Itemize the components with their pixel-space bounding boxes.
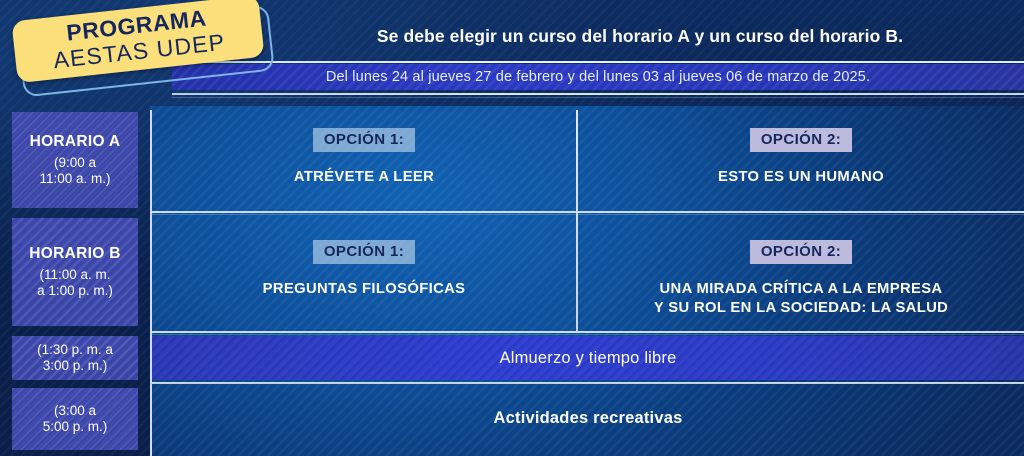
grid-vertical-option-divider: [576, 110, 578, 331]
header-rule-bottom-thin: [172, 97, 1024, 98]
horario-b-time: (11:00 a. m. a 1:00 p. m.): [37, 267, 113, 300]
option-badge: OPCIÓN 1:: [313, 128, 415, 152]
lunch-time-line1: (1:30 p. m. a: [37, 342, 113, 357]
cell-horario-b-option-1[interactable]: OPCIÓN 1: PREGUNTAS FILOSÓFICAS: [152, 224, 576, 328]
course-title: ATRÉVETE A LEER: [294, 168, 434, 187]
cell-horario-b-option-2[interactable]: OPCIÓN 2: UNA MIRADA CRÍTICA A LA EMPRES…: [578, 224, 1024, 328]
grid-horizontal-lunch-thin: [150, 383, 1024, 384]
horario-a-time: (9:00 a 11:00 a. m.): [39, 155, 110, 188]
option-badge: OPCIÓN 2:: [750, 240, 852, 264]
date-range-text: Del lunes 24 al jueves 27 de febrero y d…: [172, 64, 1024, 90]
time-block-recreation: (3:00 a 5:00 p. m.): [12, 388, 138, 450]
time-block-horario-b: HORARIO B (11:00 a. m. a 1:00 p. m.): [12, 218, 138, 326]
grid-horizontal-row-b: [150, 331, 1024, 333]
program-logo-badge: PROGRAMA AESTAS UDEP: [6, 0, 286, 104]
lunch-activity: Almuerzo y tiempo libre: [500, 349, 677, 368]
grid-horizontal-row-a: [150, 211, 1024, 213]
schedule-table: HORARIO A (9:00 a 11:00 a. m.) HORARIO B…: [0, 106, 1024, 456]
horario-a-time-line2: 11:00 a. m.): [39, 171, 110, 186]
time-block-horario-a: HORARIO A (9:00 a 11:00 a. m.): [12, 112, 138, 208]
lunch-time: (1:30 p. m. a 3:00 p. m.): [37, 342, 113, 375]
header-rule-top: [172, 61, 1024, 63]
cell-horario-a-option-1[interactable]: OPCIÓN 1: ATRÉVETE A LEER: [152, 114, 576, 210]
grid-horizontal-row-b-thin: [150, 334, 1024, 335]
recreation-time-line2: 5:00 p. m.): [43, 419, 108, 434]
horario-b-label: HORARIO B: [29, 245, 120, 263]
recreation-time: (3:00 a 5:00 p. m.): [43, 403, 108, 436]
course-title-line2: Y SU ROL EN LA SOCIEDAD: LA SALUD: [654, 300, 948, 316]
course-title: UNA MIRADA CRÍTICA A LA EMPRESA Y SU ROL…: [654, 280, 948, 318]
cell-horario-a-option-2[interactable]: OPCIÓN 2: ESTO ES UN HUMANO: [578, 114, 1024, 210]
course-title: ESTO ES UN HUMANO: [718, 168, 884, 187]
course-title: PREGUNTAS FILOSÓFICAS: [263, 280, 466, 299]
lunch-row: Almuerzo y tiempo libre: [152, 336, 1024, 380]
time-block-lunch: (1:30 p. m. a 3:00 p. m.): [12, 336, 138, 380]
horario-b-time-line1: (11:00 a. m.: [39, 267, 110, 282]
grid-horizontal-row-a-thin: [150, 214, 1024, 215]
recreation-time-line1: (3:00 a: [54, 403, 96, 418]
option-badge: OPCIÓN 1:: [313, 240, 415, 264]
grid-vertical-main: [150, 110, 152, 456]
recreation-activity: Actividades recreativas: [494, 409, 683, 428]
header-rule-bottom: [172, 93, 1024, 95]
option-badge: OPCIÓN 2:: [750, 128, 852, 152]
recreation-row: Actividades recreativas: [152, 385, 1024, 451]
course-title-line1: UNA MIRADA CRÍTICA A LA EMPRESA: [660, 281, 943, 297]
horario-a-time-line1: (9:00 a: [54, 155, 96, 170]
date-range-band: Del lunes 24 al jueves 27 de febrero y d…: [172, 64, 1024, 90]
horario-a-label: HORARIO A: [30, 133, 121, 151]
header-title: Se debe elegir un curso del horario A y …: [270, 26, 1010, 47]
time-column: HORARIO A (9:00 a 11:00 a. m.) HORARIO B…: [0, 106, 150, 456]
lunch-time-line2: 3:00 p. m.): [43, 358, 108, 373]
horario-b-time-line2: a 1:00 p. m.): [37, 283, 113, 298]
